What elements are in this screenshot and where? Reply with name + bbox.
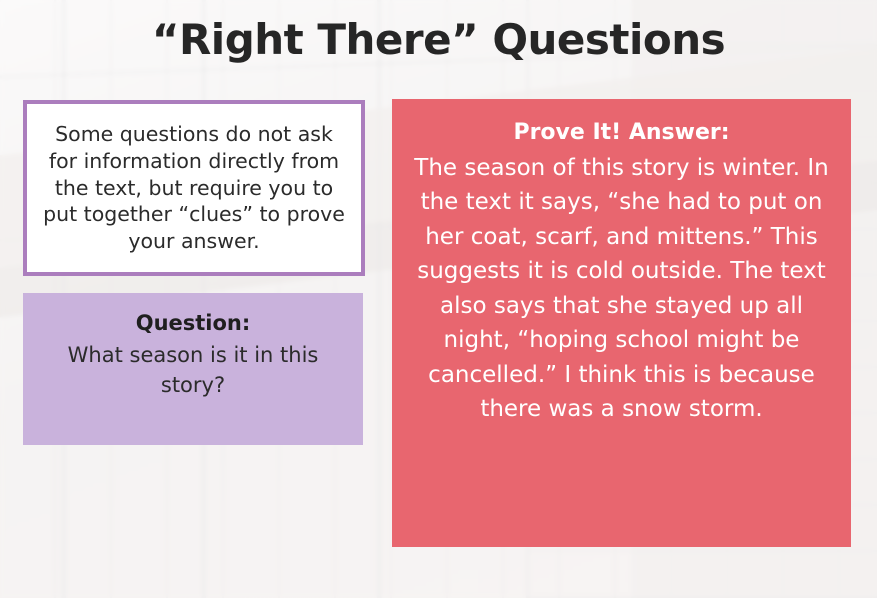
answer-card-body: The season of this story is winter. In t…	[410, 151, 833, 427]
slide-canvas: “Right There” Questions Some questions d…	[0, 0, 877, 598]
info-card-text: Some questions do not ask for informatio…	[39, 121, 349, 254]
info-card: Some questions do not ask for informatio…	[23, 100, 365, 276]
question-card-body: What season is it in this story?	[37, 341, 349, 401]
slide-title: “Right There” Questions	[0, 16, 877, 64]
question-card: Question: What season is it in this stor…	[23, 293, 363, 445]
answer-card-heading: Prove It! Answer:	[410, 117, 833, 149]
question-card-heading: Question:	[37, 309, 349, 337]
answer-card: Prove It! Answer: The season of this sto…	[392, 99, 851, 547]
